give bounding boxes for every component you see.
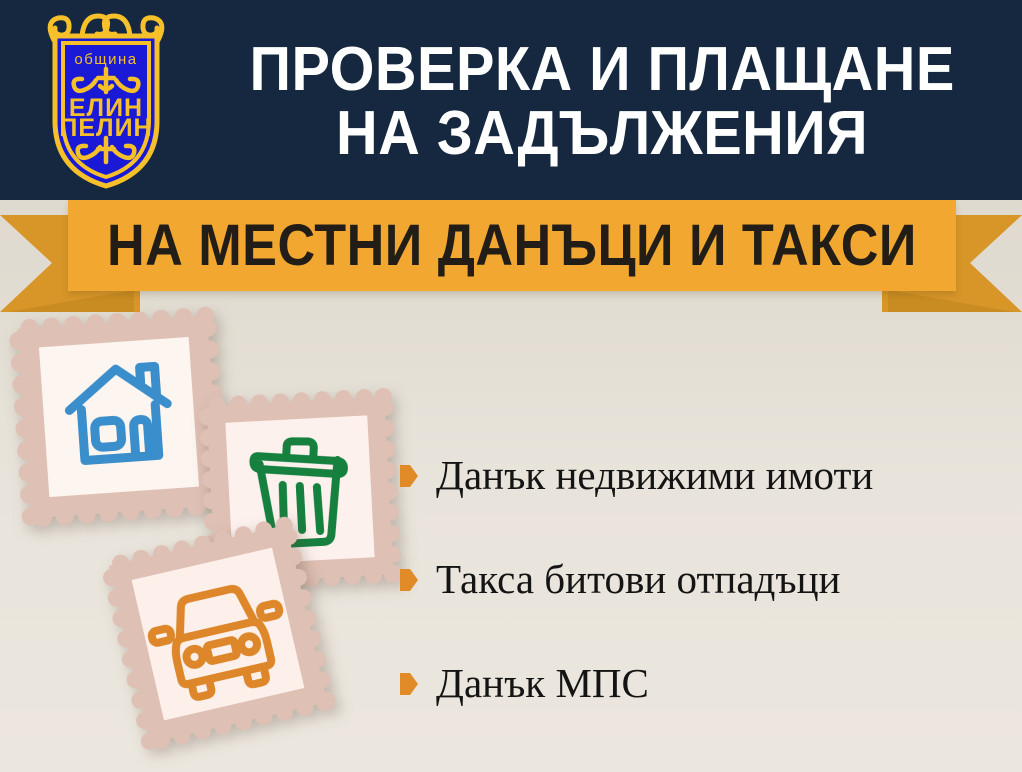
ribbon-banner: НА МЕСТНИ ДАНЪЦИ И ТАКСИ bbox=[68, 200, 956, 291]
list-item: Данък недвижими имоти bbox=[400, 424, 1010, 528]
list-item: Такса битови отпадъци bbox=[400, 528, 1010, 632]
list-item-label: Данък МПС bbox=[436, 661, 649, 706]
crest-municipality-word: община bbox=[74, 51, 137, 68]
list-item: Данък МПС bbox=[400, 632, 1010, 736]
page-title: ПРОВЕРКА И ПЛАЩАНЕ НА ЗАДЪЛЖЕНИЯ bbox=[196, 12, 1008, 192]
page-title-line-1: ПРОВЕРКА И ПЛАЩАНЕ bbox=[249, 38, 954, 102]
arrow-bullet-icon bbox=[400, 673, 418, 695]
page-title-line-2: НА ЗАДЪЛЖЕНИЯ bbox=[336, 102, 868, 166]
subtitle-ribbon: НА МЕСТНИ ДАНЪЦИ И ТАКСИ bbox=[0, 200, 1022, 320]
arrow-bullet-icon bbox=[400, 465, 418, 487]
header-bar: община ЕЛИН ПЕЛИН ПРОВЕРКА И ПЛАЩАНЕ НА … bbox=[0, 0, 1022, 200]
tax-types-list: Данък недвижими имоти Такса битови отпад… bbox=[400, 424, 1010, 736]
crest-name-line-2: ПЕЛИН bbox=[59, 114, 152, 142]
ribbon-label: НА МЕСТНИ ДАНЪЦИ И ТАКСИ bbox=[107, 217, 917, 275]
stamp-paper bbox=[39, 337, 199, 497]
municipality-crest-logo: община ЕЛИН ПЕЛИН bbox=[22, 6, 190, 194]
list-item-label: Данък недвижими имоти bbox=[436, 453, 873, 498]
list-item-label: Такса битови отпадъци bbox=[436, 557, 840, 602]
arrow-bullet-icon bbox=[400, 569, 418, 591]
poster-canvas: община ЕЛИН ПЕЛИН ПРОВЕРКА И ПЛАЩАНЕ НА … bbox=[0, 0, 1022, 772]
